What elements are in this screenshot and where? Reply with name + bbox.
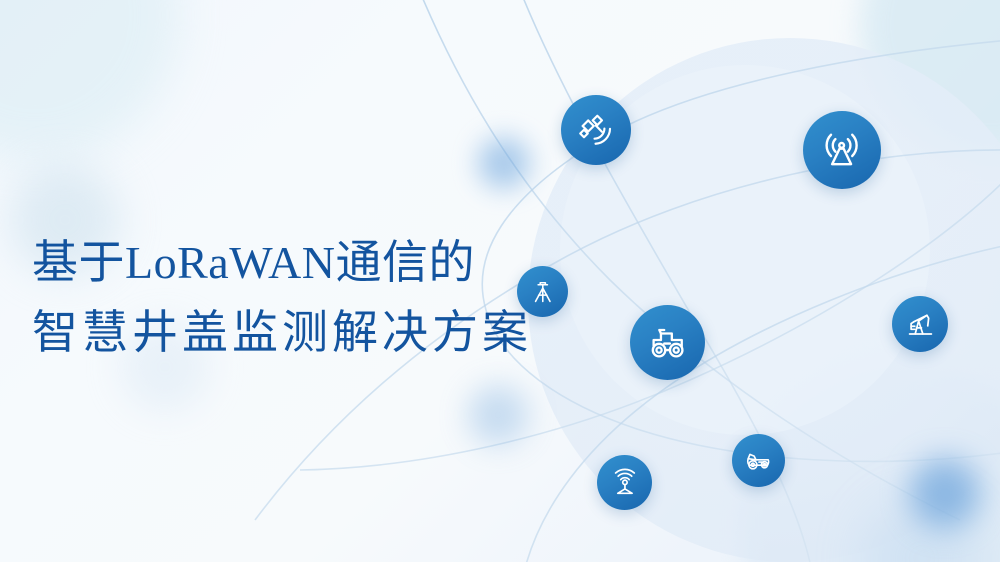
survey-tripod-icon — [528, 277, 558, 307]
wireless-sensor-icon — [609, 467, 641, 499]
node-satellite[interactable] — [561, 95, 631, 165]
node-oil-pump[interactable] — [892, 296, 948, 352]
slide-canvas: 基于LoRaWAN通信的 智慧井盖监测解决方案 — [0, 0, 1000, 562]
satellite-dish-icon — [576, 110, 617, 151]
robot-mower-icon — [743, 445, 774, 476]
radio-tower-icon — [819, 127, 864, 172]
node-radio-tower[interactable] — [803, 111, 881, 189]
title-line-1: 基于LoRaWAN通信的 — [32, 228, 532, 298]
node-robot-mower[interactable] — [732, 434, 785, 487]
node-tractor[interactable] — [630, 305, 705, 380]
page-title: 基于LoRaWAN通信的 智慧井盖监测解决方案 — [32, 228, 532, 368]
node-wireless-sensor[interactable] — [597, 455, 652, 510]
tractor-icon — [646, 321, 690, 365]
oil-pump-jack-icon — [904, 308, 936, 340]
node-survey-tripod[interactable] — [517, 266, 568, 317]
title-line-2: 智慧井盖监测解决方案 — [32, 298, 532, 368]
